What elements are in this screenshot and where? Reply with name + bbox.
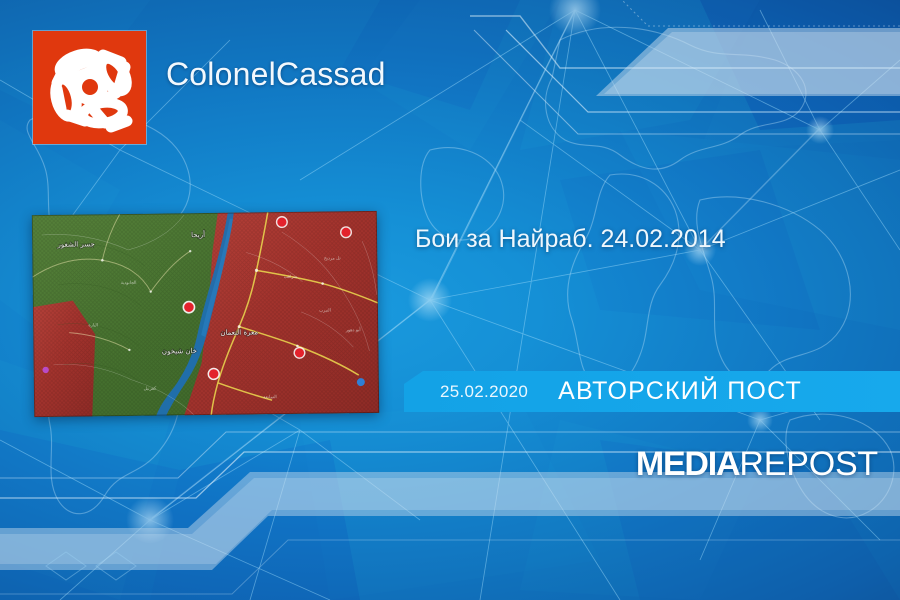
site-title: ColonelCassad	[166, 56, 386, 93]
svg-text:أريحا: أريحا	[191, 230, 205, 239]
svg-text:الجانودية: الجانودية	[121, 281, 137, 286]
mediarepost-logo[interactable]: MEDIAREPOST	[636, 447, 878, 481]
post-title: Бои за Найраб. 24.02.2014	[415, 224, 875, 255]
svg-text:البارة: البارة	[88, 323, 98, 328]
svg-text:تل مرديخ: تل مرديخ	[324, 256, 342, 261]
logo-square	[33, 31, 146, 144]
social-share-card: ColonelCassad	[0, 0, 900, 600]
svg-text:التمانعة: التمانعة	[263, 395, 277, 400]
syria-situation-map-graphic: جسر الشغور أريحا معرة النعمان خان شيخون …	[32, 211, 379, 417]
svg-text:كفرنبل: كفرنبل	[144, 386, 158, 392]
post-kind-label: АВТОРСКИЙ ПОСТ	[558, 377, 802, 406]
svg-text:خان شيخون: خان شيخون	[162, 347, 197, 355]
svg-text:سراقب: سراقب	[284, 275, 298, 280]
post-date: 25.02.2020	[440, 382, 528, 402]
site-logo[interactable]	[33, 31, 146, 144]
brand-media: MEDIA	[636, 445, 740, 483]
brand-repost: REPOST	[739, 445, 878, 483]
svg-text:النيرب: النيرب	[319, 308, 331, 313]
post-thumbnail[interactable]: جسر الشغور أريحا معرة النعمان خان شيخون …	[32, 211, 379, 417]
post-meta-banner: 25.02.2020 АВТОРСКИЙ ПОСТ	[404, 371, 900, 412]
svg-text:معرة النعمان: معرة النعمان	[220, 328, 258, 336]
livejournal-chain-logo-icon	[33, 31, 146, 144]
svg-text:جسر الشغور: جسر الشغور	[56, 240, 94, 248]
